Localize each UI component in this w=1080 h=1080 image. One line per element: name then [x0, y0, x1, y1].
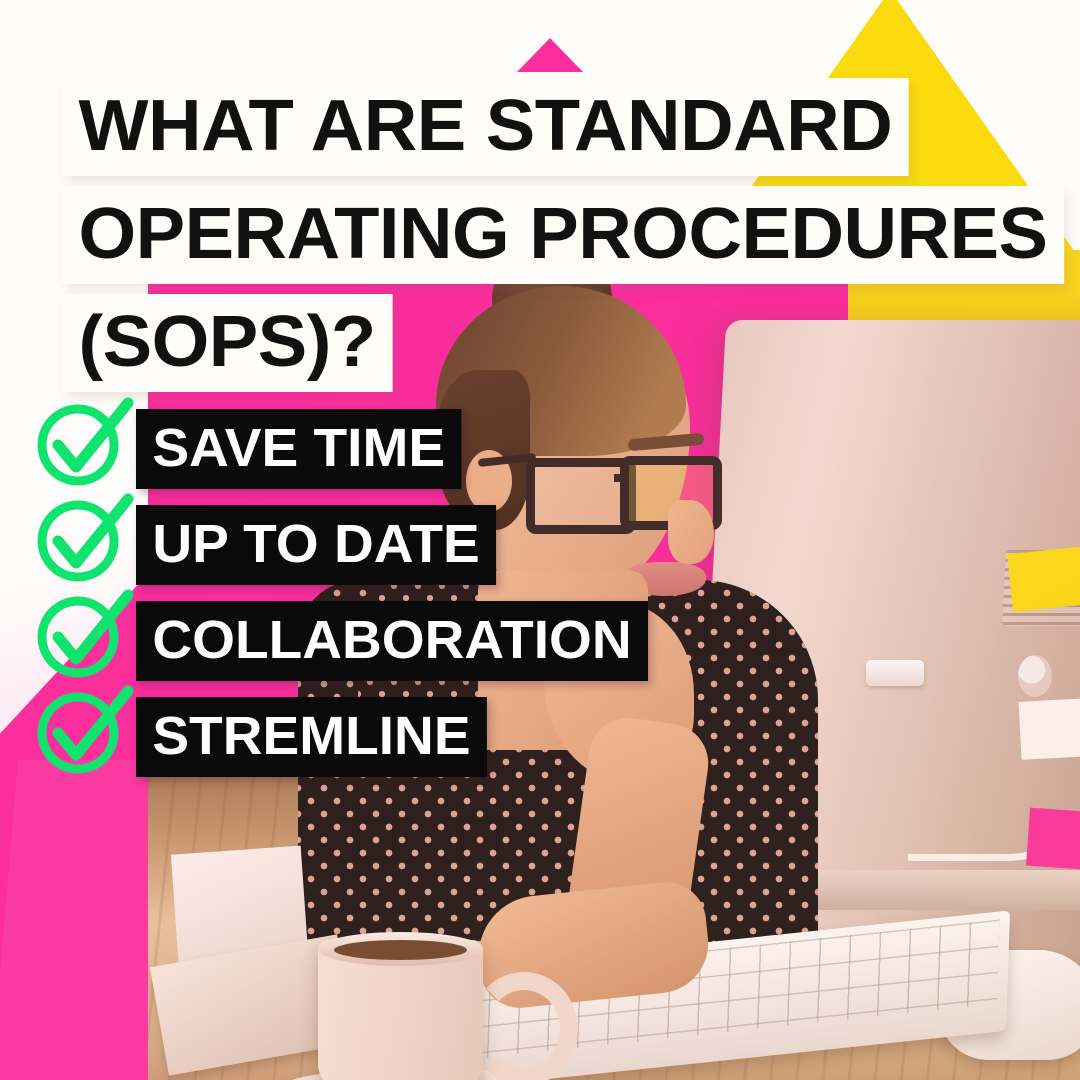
check-circle-icon: [36, 689, 132, 785]
list-item-label: STREMLINE: [136, 697, 487, 777]
list-item: COLLABORATION: [36, 604, 676, 678]
check-circle-icon: [36, 401, 132, 497]
list-item: STREMLINE: [36, 700, 676, 774]
headline-line-3: (SOPS)?: [62, 294, 392, 392]
list-item: UP TO DATE: [36, 508, 676, 582]
benefits-checklist: SAVE TIME UP TO DATE COLLABORATION: [36, 412, 676, 796]
list-item-label: UP TO DATE: [136, 505, 496, 585]
headline-line-2: OPERATING PROCEDURES: [62, 186, 1064, 284]
list-item: SAVE TIME: [36, 412, 676, 486]
list-item-label: SAVE TIME: [136, 409, 461, 489]
pink-sticky-note: [1026, 808, 1080, 871]
poster-canvas: WHAT ARE STANDARD OPERATING PROCEDURES (…: [0, 0, 1080, 1080]
check-circle-icon: [36, 497, 132, 593]
white-sticky-note: [1019, 698, 1080, 760]
yellow-sticky-note: [1007, 546, 1080, 612]
headline-line-1: WHAT ARE STANDARD: [62, 78, 909, 176]
coffee-surface: [334, 940, 467, 960]
list-item-label: COLLABORATION: [136, 601, 648, 681]
mug-handle: [470, 972, 578, 1080]
page-title: WHAT ARE STANDARD OPERATING PROCEDURES (…: [62, 78, 1002, 402]
check-circle-icon: [36, 593, 132, 689]
pink-triangle-icon: [517, 38, 583, 72]
